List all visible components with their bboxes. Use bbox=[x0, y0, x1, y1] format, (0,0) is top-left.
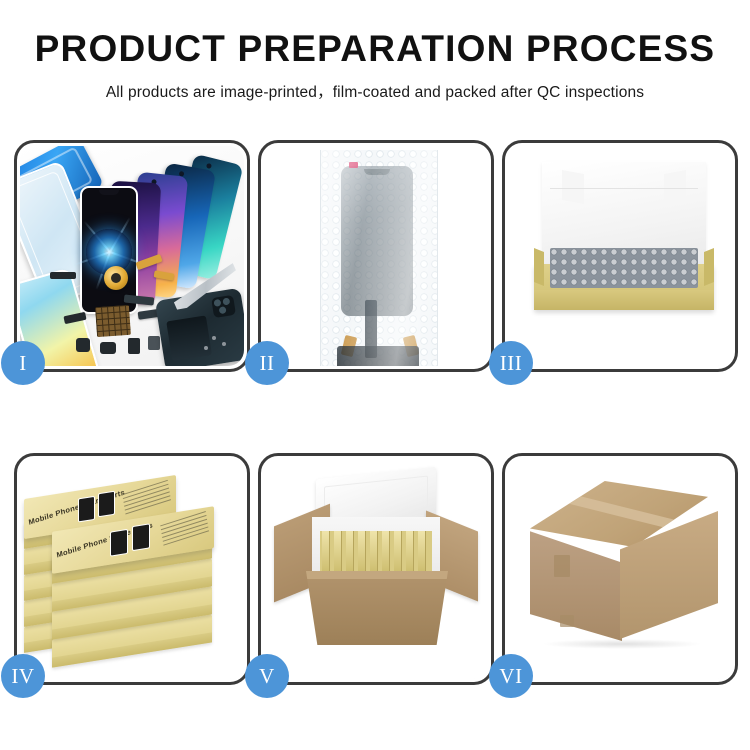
step-badge-6: VI bbox=[489, 654, 533, 698]
step-2-illustration bbox=[264, 146, 488, 366]
process-step-panel-1[interactable]: I bbox=[14, 140, 250, 372]
carton-marking-icon bbox=[560, 615, 574, 627]
yellow-inner-box-icon bbox=[534, 264, 714, 310]
header: PRODUCT PREPARATION PROCESS All products… bbox=[0, 30, 750, 102]
infographic-page: PRODUCT PREPARATION PROCESS All products… bbox=[0, 0, 750, 750]
bag-sheen bbox=[321, 150, 437, 366]
box-art-screen-icon bbox=[98, 491, 115, 518]
process-step-panel-3[interactable]: III bbox=[502, 140, 738, 372]
component-icon bbox=[128, 338, 140, 354]
box-art-screen-icon bbox=[78, 496, 95, 523]
screw-icon bbox=[212, 336, 216, 340]
step-badge-3: III bbox=[489, 341, 533, 385]
step-badge-1: I bbox=[1, 341, 45, 385]
step-badge-4: IV bbox=[1, 654, 45, 698]
carton-marking-icon bbox=[554, 555, 570, 577]
process-step-grid: I II bbox=[14, 140, 736, 685]
step-5-illustration bbox=[264, 459, 488, 679]
chip-grid-icon bbox=[95, 305, 131, 337]
packed-retail-boxes-icon bbox=[320, 531, 432, 575]
open-carton-icon bbox=[306, 571, 448, 645]
box-art-screen-icon bbox=[110, 529, 128, 557]
process-step-panel-6[interactable]: VI bbox=[502, 453, 738, 685]
step-3-illustration bbox=[508, 146, 732, 366]
screw-icon bbox=[222, 342, 226, 346]
phone-back-housing-icon bbox=[155, 288, 244, 366]
box-art-screen-icon bbox=[132, 523, 150, 551]
bubble-wrap-bag-icon bbox=[320, 150, 438, 366]
screw-icon bbox=[204, 346, 208, 350]
component-icon bbox=[50, 272, 76, 279]
step-4-illustration: Mobile Phone Spare Parts Mobile Phone Sp… bbox=[20, 459, 244, 679]
component-icon bbox=[76, 338, 90, 352]
component-icon bbox=[148, 336, 160, 350]
step-badge-2: II bbox=[245, 341, 289, 385]
process-step-panel-4[interactable]: Mobile Phone Spare Parts Mobile Phone Sp… bbox=[14, 453, 250, 685]
step-badge-5: V bbox=[245, 654, 289, 698]
process-step-panel-5[interactable]: V bbox=[258, 453, 494, 685]
bubble-wrap-fill-icon bbox=[550, 248, 698, 288]
retail-box-stack: Mobile Phone Spare Parts Mobile Phone Sp… bbox=[24, 483, 244, 673]
speaker-coil-icon bbox=[104, 266, 128, 290]
step-1-illustration bbox=[20, 146, 244, 366]
process-step-panel-2[interactable]: II bbox=[258, 140, 494, 372]
page-subtitle: All products are image-printed，film-coat… bbox=[0, 80, 750, 102]
box-spec-lines bbox=[160, 511, 210, 550]
page-title: PRODUCT PREPARATION PROCESS bbox=[0, 30, 750, 69]
carton-shadow bbox=[542, 639, 702, 649]
step-6-illustration bbox=[508, 459, 732, 679]
component-icon bbox=[100, 342, 116, 354]
